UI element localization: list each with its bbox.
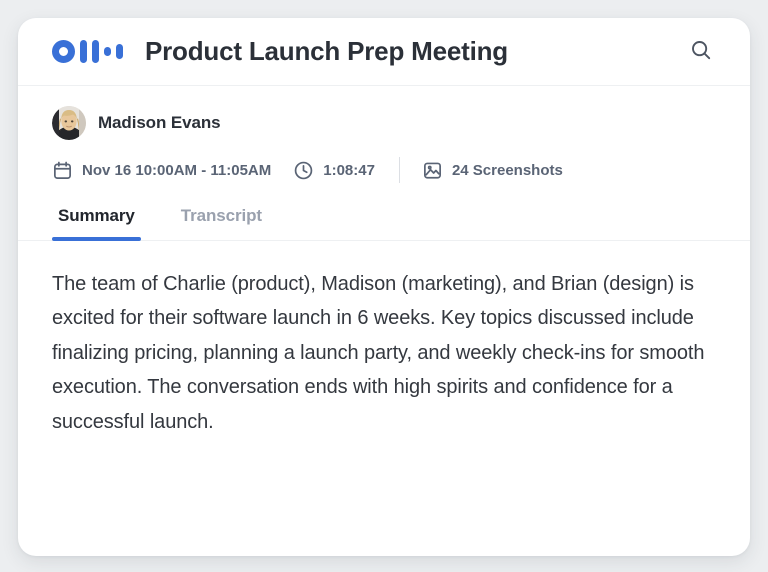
search-button[interactable] — [682, 33, 720, 71]
card-header: Product Launch Prep Meeting — [18, 18, 750, 86]
otter-logo — [52, 40, 123, 63]
logo-bar-1-icon — [80, 40, 87, 63]
tab-transcript[interactable]: Transcript — [175, 205, 268, 240]
meta-section: Madison Evans Nov 16 10:00AM - 11:05AM — [18, 86, 750, 183]
search-icon — [689, 38, 713, 65]
stats-divider — [399, 157, 400, 183]
avatar — [52, 106, 86, 140]
image-icon — [422, 160, 443, 181]
stat-date-time-label: Nov 16 10:00AM - 11:05AM — [82, 162, 271, 179]
stat-screenshots: 24 Screenshots — [422, 160, 563, 181]
stat-duration: 1:08:47 — [293, 160, 375, 181]
page-title: Product Launch Prep Meeting — [145, 36, 682, 67]
tab-summary[interactable]: Summary — [52, 205, 141, 240]
page-background: Product Launch Prep Meeting — [0, 0, 768, 572]
logo-ring-icon — [52, 40, 75, 63]
clock-icon — [293, 160, 314, 181]
stat-date-time: Nov 16 10:00AM - 11:05AM — [52, 160, 271, 181]
calendar-icon — [52, 160, 73, 181]
summary-panel: The team of Charlie (product), Madison (… — [18, 241, 750, 439]
owner-name: Madison Evans — [98, 113, 220, 133]
user-avatar-photo-icon — [52, 106, 86, 140]
meeting-stats-row: Nov 16 10:00AM - 11:05AM 1:08:47 — [52, 157, 716, 183]
tab-bar: Summary Transcript — [18, 205, 750, 241]
logo-bar-4-icon — [116, 44, 123, 59]
meeting-card: Product Launch Prep Meeting — [18, 18, 750, 556]
owner-row: Madison Evans — [52, 106, 716, 140]
logo-bar-3-icon — [104, 47, 111, 56]
logo-bar-2-icon — [92, 40, 99, 63]
stat-screenshots-label: 24 Screenshots — [452, 162, 563, 179]
summary-text: The team of Charlie (product), Madison (… — [52, 267, 706, 439]
stat-duration-label: 1:08:47 — [323, 162, 375, 179]
